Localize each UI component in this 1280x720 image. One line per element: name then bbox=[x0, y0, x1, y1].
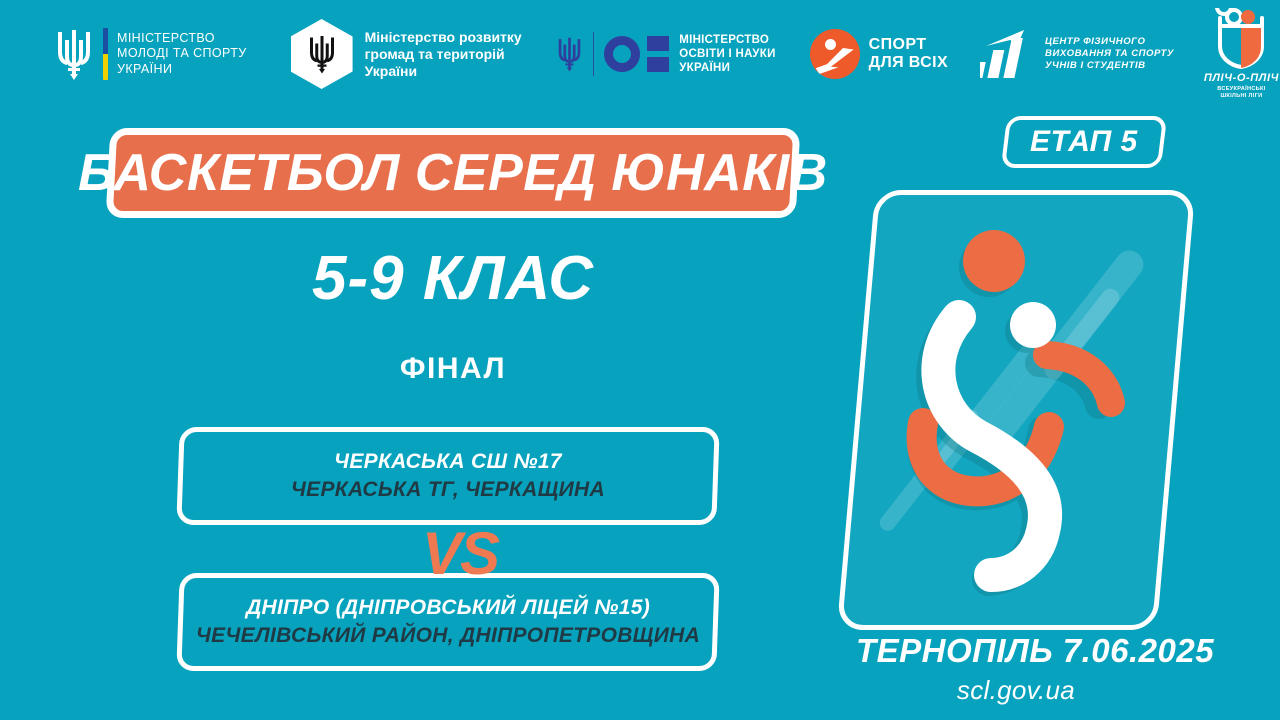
logo-title: ПЛІЧ-О-ПЛІЧ bbox=[1204, 72, 1279, 84]
website-label: scl.gov.ua bbox=[856, 675, 1176, 706]
logo-plich-o-plich: ПЛІЧ-О-ПЛІЧ ВСЕУКРАЇНСЬКІ ШКІЛЬНІ ЛІГИ bbox=[1204, 8, 1279, 100]
team-name: ДНІПРО (ДНІПРОВСЬКИЙ ЛІЦЕЙ №15) bbox=[196, 594, 700, 622]
event-poster: МІНІСТЕРСТВО МОЛОДІ ТА СПОРТУ УКРАЇНИ bbox=[0, 0, 1280, 720]
sponsor-logo-strip: МІНІСТЕРСТВО МОЛОДІ ТА СПОРТУ УКРАЇНИ bbox=[0, 0, 1280, 108]
logo-label: МІНІСТЕРСТВО ОСВІТИ І НАУКИ УКРАЇНИ bbox=[679, 33, 775, 75]
logo-ministry-of-education-and-science: МІНІСТЕРСТВО ОСВІТИ І НАУКИ УКРАЇНИ bbox=[556, 32, 776, 76]
rising-arrow-icon bbox=[980, 28, 1036, 80]
trident-icon bbox=[54, 26, 94, 82]
logo-label: СПОРТ ДЛЯ ВСІХ bbox=[869, 36, 948, 72]
logo-subtitle: ВСЕУКРАЇНСЬКІ ШКІЛЬНІ ЛІГИ bbox=[1217, 86, 1265, 100]
divider bbox=[593, 32, 595, 76]
trident-icon bbox=[556, 34, 583, 74]
basketball-player-icon bbox=[837, 190, 1195, 630]
mon-o-icon bbox=[604, 36, 669, 72]
logo-sport-for-all: СПОРТ ДЛЯ ВСІХ bbox=[810, 29, 948, 79]
page-title: БАСКЕТБОЛ СЕРЕД ЮНАКІВ bbox=[78, 143, 828, 203]
logo-ministry-of-youth-and-sport: МІНІСТЕРСТВО МОЛОДІ ТА СПОРТУ УКРАЇНИ bbox=[54, 26, 247, 82]
logo-label: МІНІСТЕРСТВО МОЛОДІ ТА СПОРТУ УКРАЇНИ bbox=[117, 31, 247, 78]
logo-label: ЦЕНТР ФІЗИЧНОГО ВИХОВАННЯ ТА СПОРТУ УЧНІ… bbox=[1045, 36, 1174, 72]
ball-icon bbox=[1010, 302, 1056, 348]
round-label: ФІНАЛ bbox=[108, 352, 798, 386]
ukraine-flag-bar-icon bbox=[103, 28, 108, 80]
team-name: ЧЕРКАСЬКА СШ №17 bbox=[291, 448, 605, 476]
grade-label: 5-9 КЛАС bbox=[108, 243, 798, 314]
runner-circle-icon bbox=[810, 29, 860, 79]
team-region: ЧЕЧЕЛІВСЬКИЙ РАЙОН, ДНІПРОПЕТРОВЩИНА bbox=[196, 622, 700, 650]
trident-hexagon-icon bbox=[291, 19, 353, 89]
versus-label: VS bbox=[415, 519, 505, 588]
shield-logo-icon bbox=[1210, 8, 1272, 70]
trident-icon bbox=[307, 33, 337, 75]
logo-label: Міністерство розвитку громад та територі… bbox=[365, 29, 522, 80]
player-head bbox=[963, 230, 1025, 292]
logo-ministry-of-communities-development: Міністерство розвитку громад та територі… bbox=[291, 19, 522, 89]
team-region: ЧЕРКАСЬКА ТГ, ЧЕРКАЩИНА bbox=[291, 476, 605, 504]
stage-badge-label: ЕТАП 5 bbox=[1030, 125, 1138, 159]
event-title-banner: БАСКЕТБОЛ СЕРЕД ЮНАКІВ bbox=[106, 128, 801, 218]
city-date-label: ТЕРНОПІЛЬ 7.06.2025 bbox=[856, 632, 1176, 670]
stage-badge: ЕТАП 5 bbox=[1001, 116, 1167, 168]
team-card-home: ЧЕРКАСЬКА СШ №17 ЧЕРКАСЬКА ТГ, ЧЕРКАЩИНА bbox=[176, 427, 719, 525]
logo-center-physical-education: ЦЕНТР ФІЗИЧНОГО ВИХОВАННЯ ТА СПОРТУ УЧНІ… bbox=[980, 28, 1174, 80]
